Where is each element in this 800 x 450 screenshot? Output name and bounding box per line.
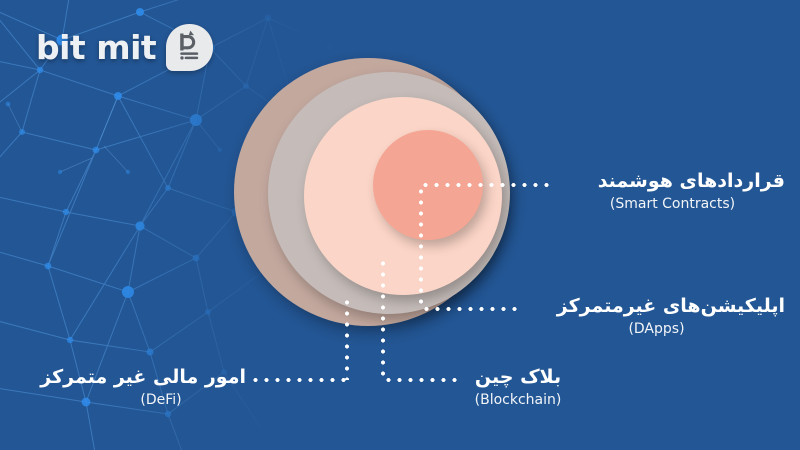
label-smart-contracts[interactable]: قراردادهای هوشمند (Smart Contracts): [560, 170, 785, 215]
label-blockchain-en: (Blockchain): [466, 390, 570, 411]
connector-smart-contracts: [420, 183, 552, 187]
label-defi[interactable]: امور مالی غیر متمرکز (DeFi): [76, 366, 246, 411]
label-smart-contracts-fa: قراردادهای هوشمند: [560, 170, 785, 194]
connector-blockchain-horizontal: [383, 378, 459, 382]
label-dapps[interactable]: اپلیکیشن‌های غیرمتمرکز (DApps): [528, 295, 785, 340]
brand-logo[interactable]: bit mit: [36, 24, 213, 71]
label-smart-contracts-en: (Smart Contracts): [560, 194, 785, 215]
connector-dapps-vertical: [419, 186, 423, 310]
label-defi-fa: امور مالی غیر متمرکز: [76, 366, 246, 390]
label-dapps-en: (DApps): [528, 319, 785, 340]
connector-defi-vertical: [345, 297, 349, 380]
connector-dapps-horizontal: [421, 307, 523, 311]
label-dapps-fa: اپلیکیشن‌های غیرمتمرکز: [528, 295, 785, 319]
brand-name: bit mit: [36, 28, 156, 67]
label-defi-en: (DeFi): [76, 390, 246, 411]
bitmit-logo-icon: [166, 24, 213, 71]
infographic-canvas: bit mit قراردادهای هوشمند (Smart Contrac…: [0, 0, 800, 450]
label-blockchain-fa: بلاک چین: [466, 366, 570, 390]
connector-defi-horizontal: [250, 378, 347, 382]
label-blockchain[interactable]: بلاک چین (Blockchain): [466, 366, 570, 411]
connector-blockchain-vertical: [381, 258, 385, 380]
